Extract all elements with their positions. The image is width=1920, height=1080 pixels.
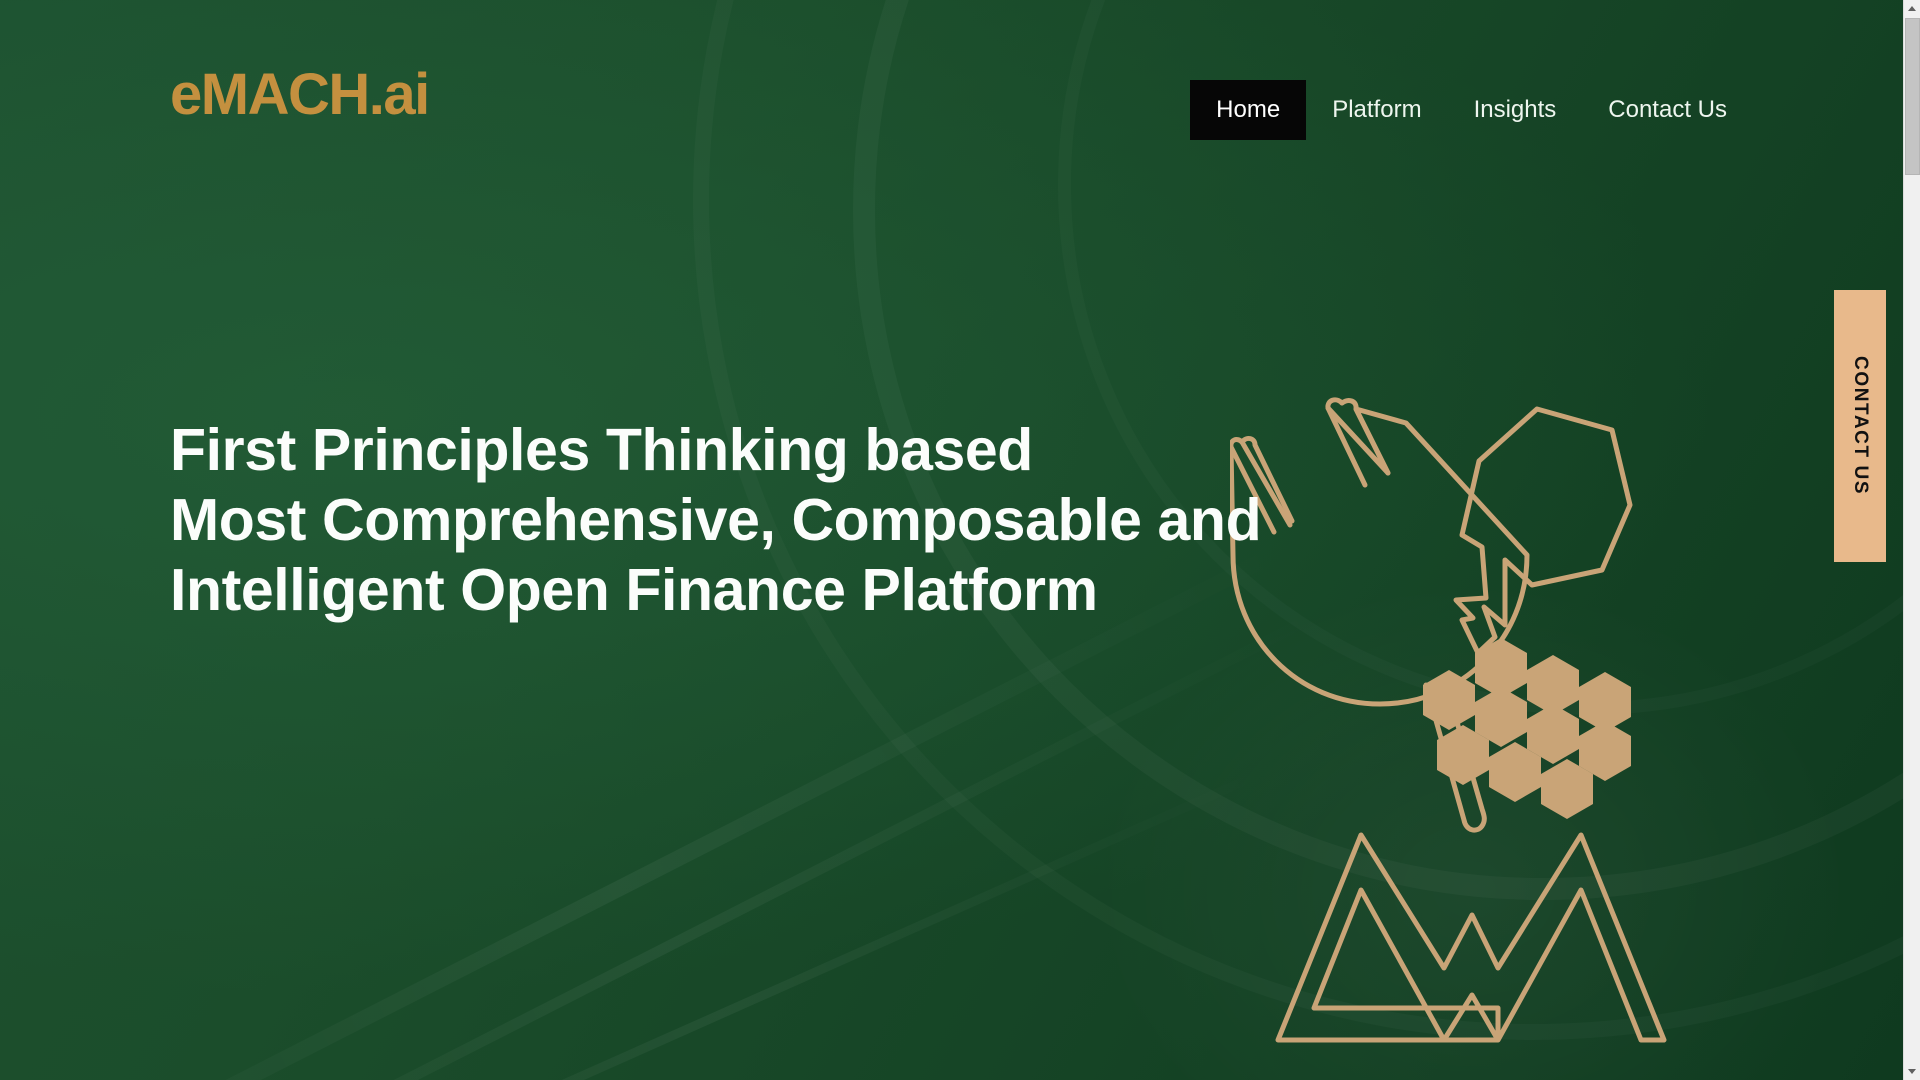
chevron-up-icon <box>1908 6 1916 11</box>
nav-item-contact-us[interactable]: Contact Us <box>1582 80 1753 140</box>
vertical-scrollbar[interactable] <box>1903 0 1920 1080</box>
hero-headline: First Principles Thinking based Most Com… <box>170 415 1261 625</box>
main-navigation: Home Platform Insights Contact Us <box>1190 80 1753 140</box>
hero-headline-line-3: Intelligent Open Finance Platform <box>170 557 1098 623</box>
scroll-down-button[interactable] <box>1904 1063 1920 1080</box>
nav-item-platform[interactable]: Platform <box>1306 80 1447 140</box>
page-viewport: eMACH.ai Home Platform Insights Contact … <box>0 0 1903 1080</box>
mountain-m-outline <box>1278 835 1664 1040</box>
hero-headline-line-2: Most Comprehensive, Composable and <box>170 487 1261 553</box>
brand-logo[interactable]: eMACH.ai <box>170 66 429 124</box>
site-header: eMACH.ai Home Platform Insights Contact … <box>0 0 1903 196</box>
hero-artwork <box>1230 395 1690 1055</box>
hexagon-speech-bubble-arrow <box>1456 409 1630 653</box>
scroll-up-button[interactable] <box>1904 0 1920 17</box>
contact-us-side-tab[interactable]: CONTACT US <box>1834 290 1886 562</box>
hero-headline-line-1: First Principles Thinking based <box>170 417 1033 483</box>
nav-item-home[interactable]: Home <box>1190 80 1306 140</box>
hero-section: First Principles Thinking based Most Com… <box>170 415 1261 625</box>
scrollbar-thumb[interactable] <box>1905 18 1920 175</box>
nav-item-insights[interactable]: Insights <box>1448 80 1583 140</box>
chevron-down-icon <box>1908 1069 1916 1074</box>
contact-us-side-tab-label: CONTACT US <box>1849 356 1871 495</box>
